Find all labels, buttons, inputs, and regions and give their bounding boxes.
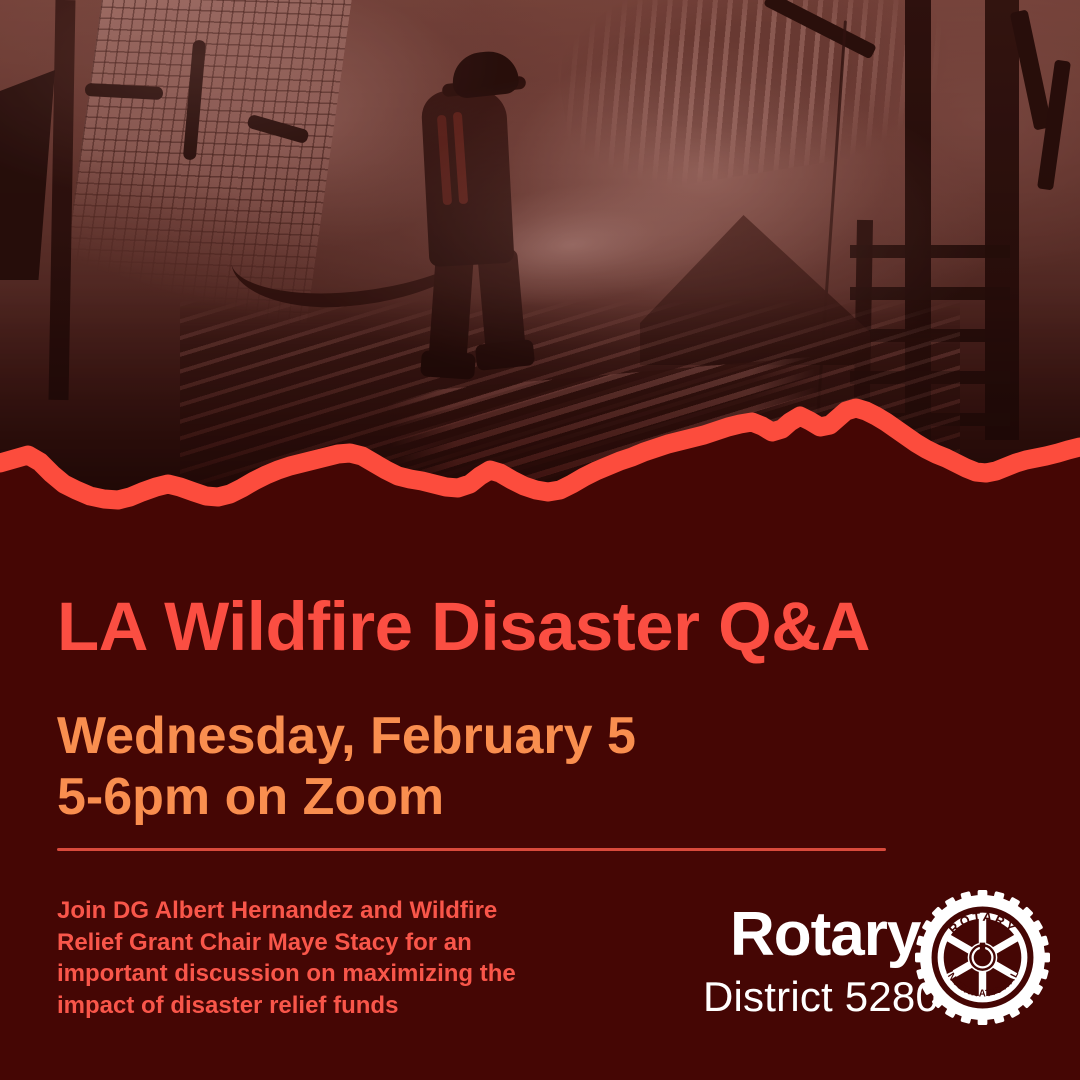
wheel-hub-core xyxy=(974,949,992,967)
event-poster: LA Wildfire Disaster Q&A Wednesday, Febr… xyxy=(0,0,1080,1080)
district-label: District 5280 xyxy=(703,976,939,1018)
rotary-logo-lockup: Rotary District 5280 xyxy=(700,890,1050,1050)
rotary-wordmark: Rotary xyxy=(730,904,920,966)
torn-paper-edge xyxy=(0,380,1080,560)
rotary-wheel-icon: ROTARY INTERNATIONAL xyxy=(915,890,1050,1025)
section-divider xyxy=(57,848,886,851)
page-title: LA Wildfire Disaster Q&A xyxy=(57,592,870,661)
event-description: Join DG Albert Hernandez and Wildfire Re… xyxy=(57,895,637,1022)
event-datetime: Wednesday, February 5 5-6pm on Zoom xyxy=(57,706,636,829)
wheel-keyway xyxy=(980,943,985,951)
